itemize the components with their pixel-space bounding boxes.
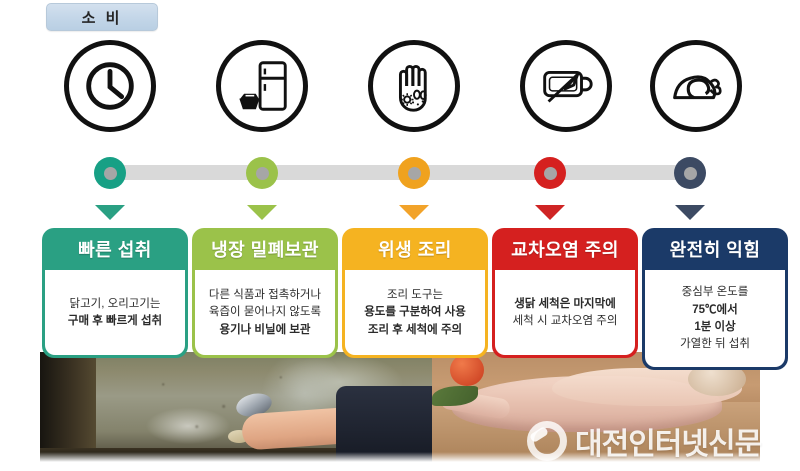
connector-arrow-5 [675,205,705,220]
connector-arrow-2 [247,205,277,220]
connector-arrow-4 [535,205,565,220]
step-card-1[interactable]: 빠른 섭취 닭고기, 오리고기는 구매 후 빠르게 섭취 [42,228,188,358]
infographic-canvas: 소 비 [0,0,800,471]
photo-sleeve [336,386,432,462]
card-line: 용도를 구분하여 사용 [364,305,466,319]
timeline-dot-3[interactable] [398,157,430,189]
step-card-4[interactable]: 교차오염 주의 생닭 세척은 마지막에 세척 시 교차오염 주의 [492,228,638,358]
card-title: 교차오염 주의 [492,228,638,270]
dot-center [256,167,269,180]
photo-tomato [450,354,484,386]
card-line: 용기나 비닐에 보관 [219,323,310,337]
icon-row [0,40,800,150]
card-title: 위생 조리 [342,228,488,270]
connector-arrow-3 [399,205,429,220]
card-line: 구매 후 빠르게 섭취 [68,314,162,328]
phase-tag: 소 비 [46,3,158,31]
dot-center [684,167,697,180]
card-title: 완전히 익힘 [642,228,788,270]
card-line: 조리 도구는 [387,288,443,302]
refrigerator-icon [216,40,308,132]
dirty-hand-icon [368,40,460,132]
knife-cutting-board-icon [520,40,612,132]
dot-center [104,167,117,180]
photo-bottom-fade [40,452,760,462]
card-line: 중심부 온도를 [682,285,749,299]
timeline-dot-5[interactable] [674,157,706,189]
card-line: 가열한 뒤 섭취 [680,337,750,351]
card-line: 1분 이상 [694,320,735,334]
timeline-dot-2[interactable] [246,157,278,189]
dot-center [544,167,557,180]
card-line: 다른 식품과 접촉하거나 [209,288,321,302]
photo-pot-rim [40,352,96,462]
roast-chicken-icon [650,40,742,132]
card-body: 다른 식품과 접촉하거나 육즙이 묻어나지 않도록 용기나 비닐에 보관 [195,270,335,355]
card-body: 생닭 세척은 마지막에 세척 시 교차오염 주의 [495,270,635,355]
card-body: 닭고기, 오리고기는 구매 후 빠르게 섭취 [45,270,185,355]
step-card-3[interactable]: 위생 조리 조리 도구는 용도를 구분하여 사용 조리 후 세척에 주의 [342,228,488,358]
timeline-dot-4[interactable] [534,157,566,189]
card-line: 세척 시 교차오염 주의 [513,314,618,328]
card-body: 중심부 온도를 75℃에서 1분 이상 가열한 뒤 섭취 [645,270,785,367]
card-body: 조리 도구는 용도를 구분하여 사용 조리 후 세척에 주의 [345,270,485,355]
card-title: 냉장 밀폐보관 [192,228,338,270]
timeline-dot-1[interactable] [94,157,126,189]
clock-icon [64,40,156,132]
connector-arrow-1 [95,205,125,220]
card-line: 75℃에서 [692,303,737,317]
step-card-2[interactable]: 냉장 밀폐보관 다른 식품과 접촉하거나 육즙이 묻어나지 않도록 용기나 비닐… [192,228,338,358]
card-line: 닭고기, 오리고기는 [69,297,160,311]
card-line: 육즙이 묻어나지 않도록 [209,305,321,319]
card-line: 생닭 세척은 마지막에 [514,297,616,311]
card-line: 조리 후 세척에 주의 [368,323,462,337]
card-title: 빠른 섭취 [42,228,188,270]
photo-cooking-pot [40,352,432,462]
step-card-5[interactable]: 완전히 익힘 중심부 온도를 75℃에서 1분 이상 가열한 뒤 섭취 [642,228,788,370]
dot-center [408,167,421,180]
